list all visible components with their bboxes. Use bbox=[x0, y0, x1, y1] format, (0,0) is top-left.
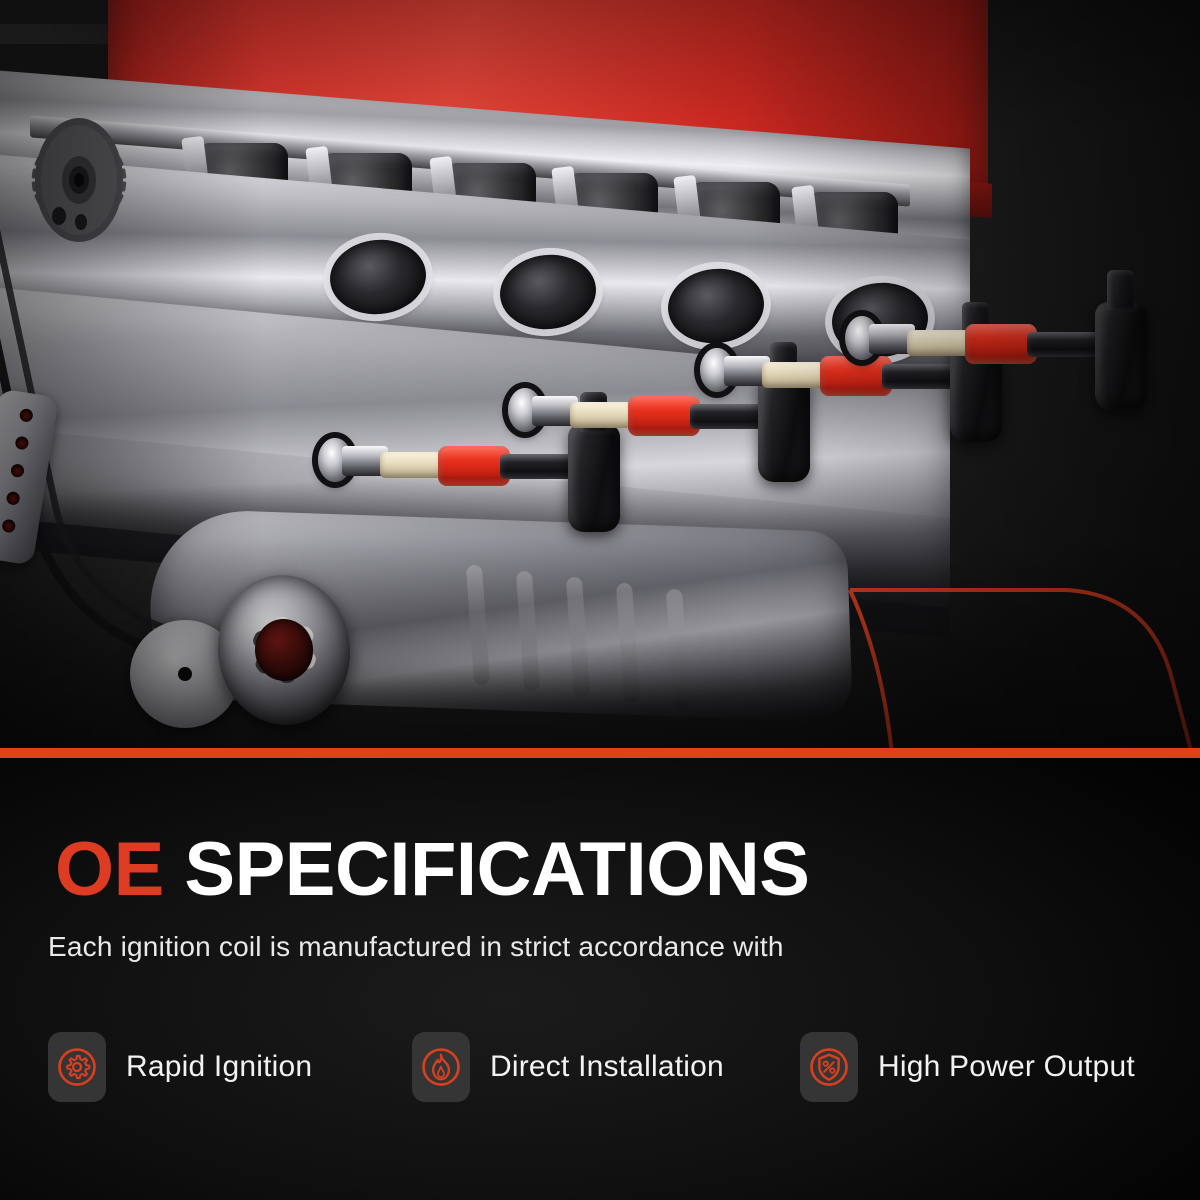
shield-percent-icon bbox=[808, 1046, 850, 1088]
feature-icon-tile bbox=[48, 1032, 106, 1102]
feature-label: High Power Output bbox=[878, 1050, 1135, 1084]
bracket-hole bbox=[10, 463, 25, 478]
page-title: OE SPECIFICATIONS bbox=[55, 832, 809, 908]
feature-label: Rapid Ignition bbox=[126, 1050, 312, 1084]
bracket-hole bbox=[1, 518, 16, 533]
engine-product-photo bbox=[0, 0, 1200, 748]
bracket-hole bbox=[5, 491, 20, 506]
spark-plug-ceramic bbox=[380, 452, 442, 478]
feature-direct-installation: Direct Installation bbox=[412, 1032, 724, 1102]
bracket-hole bbox=[14, 435, 29, 450]
coil-body bbox=[1095, 302, 1147, 410]
flame-icon bbox=[420, 1046, 462, 1088]
timing-sprocket-gear bbox=[24, 104, 134, 256]
spark-plug-ceramic bbox=[907, 330, 969, 356]
feature-badge-row: Rapid Ignition Direct Installation bbox=[0, 1026, 1200, 1118]
subheadline: Each ignition coil is manufactured in st… bbox=[48, 931, 784, 963]
spark-plug-ceramic bbox=[570, 402, 632, 428]
coil-body bbox=[758, 374, 810, 482]
orange-divider bbox=[0, 748, 1200, 758]
product-marketing-banner: OE SPECIFICATIONS Each ignition coil is … bbox=[0, 0, 1200, 1200]
spark-plug-ceramic bbox=[762, 362, 824, 388]
gear-icon bbox=[56, 1046, 98, 1088]
bracket-hole bbox=[18, 408, 33, 423]
headline-accent: OE bbox=[55, 827, 164, 912]
headline-rest: SPECIFICATIONS bbox=[164, 827, 810, 912]
feature-icon-tile bbox=[412, 1032, 470, 1102]
marketing-copy-section: OE SPECIFICATIONS Each ignition coil is … bbox=[0, 758, 1200, 1200]
feature-rapid-ignition: Rapid Ignition bbox=[48, 1032, 312, 1102]
feature-label: Direct Installation bbox=[490, 1050, 724, 1084]
feature-icon-tile bbox=[800, 1032, 858, 1102]
coil-connector bbox=[1107, 270, 1134, 310]
orange-accent-outline bbox=[820, 564, 1200, 748]
feature-high-power-output: High Power Output bbox=[800, 1032, 1135, 1102]
coil-body bbox=[568, 424, 620, 532]
